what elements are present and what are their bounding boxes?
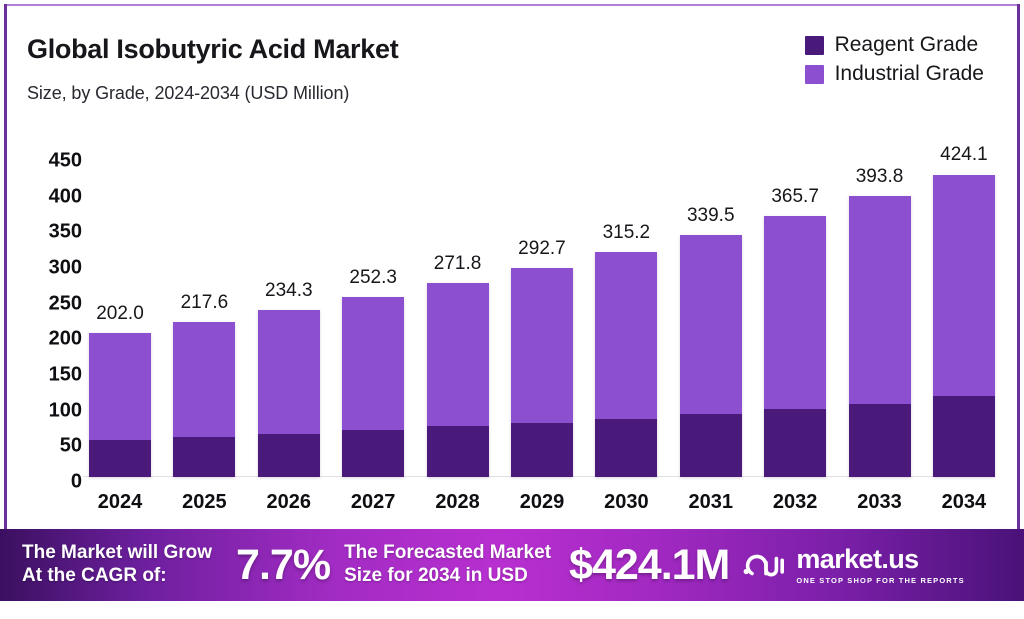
bar-value-label: 339.5	[687, 205, 735, 227]
bar-segment-industrial[interactable]	[173, 322, 235, 437]
bar-segment-industrial[interactable]	[511, 268, 573, 423]
forecast-caption: The Forecasted Market Size for 2034 in U…	[344, 542, 551, 588]
bar-stack[interactable]	[511, 268, 573, 477]
bar-stack[interactable]	[680, 235, 742, 477]
y-axis-tick: 300	[49, 257, 82, 280]
bar-segment-industrial[interactable]	[680, 235, 742, 414]
bar-column[interactable]: 252.3	[342, 156, 404, 477]
chart-plot-area: 450400350300250200150100500 202.0217.623…	[7, 6, 1017, 525]
bar-segment-industrial[interactable]	[849, 196, 911, 404]
bar-value-label: 315.2	[603, 222, 651, 244]
bar-group: 202.0217.6234.3252.3271.8292.7315.2339.5…	[89, 156, 995, 477]
brand-name: market.us	[796, 546, 964, 573]
bar-segment-reagent[interactable]	[258, 434, 320, 477]
summary-banner: The Market will Grow At the CAGR of: 7.7…	[0, 529, 1024, 601]
brand-tagline: ONE STOP SHOP FOR THE REPORTS	[796, 577, 964, 585]
bar-value-label: 292.7	[518, 238, 566, 260]
bar-segment-reagent[interactable]	[342, 430, 404, 477]
bar-value-label: 217.6	[181, 292, 229, 314]
x-axis-tick: 2024	[89, 491, 151, 521]
bar-stack[interactable]	[933, 174, 995, 477]
bar-segment-industrial[interactable]	[89, 333, 151, 440]
bar-segment-industrial[interactable]	[258, 310, 320, 434]
bar-column[interactable]: 271.8	[427, 156, 489, 477]
bar-segment-reagent[interactable]	[933, 396, 995, 477]
brand-lockup: market.us ONE STOP SHOP FOR THE REPORTS	[743, 546, 964, 585]
x-axis-tick: 2031	[680, 491, 742, 521]
x-axis-tick: 2026	[258, 491, 320, 521]
y-axis-tick: 50	[60, 435, 82, 458]
bar-column[interactable]: 217.6	[173, 156, 235, 477]
bar-column[interactable]: 292.7	[511, 156, 573, 477]
bar-column[interactable]: 365.7	[764, 156, 826, 477]
bar-stack[interactable]	[764, 216, 826, 477]
x-axis-tick: 2027	[342, 491, 404, 521]
bar-value-label: 393.8	[856, 166, 904, 188]
y-axis-tick: 100	[49, 399, 82, 422]
bar-segment-industrial[interactable]	[933, 175, 995, 397]
y-axis-tick: 200	[49, 328, 82, 351]
bar-value-label: 252.3	[349, 267, 397, 289]
y-axis-tick: 450	[49, 150, 82, 173]
bar-stack[interactable]	[173, 322, 235, 477]
bar-column[interactable]: 315.2	[595, 156, 657, 477]
bar-stack[interactable]	[89, 333, 151, 477]
bar-column[interactable]: 424.1	[933, 156, 995, 477]
y-axis: 450400350300250200150100500	[27, 161, 82, 483]
bar-stack[interactable]	[427, 283, 489, 477]
bar-segment-industrial[interactable]	[595, 252, 657, 418]
x-axis-tick: 2029	[511, 491, 573, 521]
x-axis: 2024202520262027202820292030203120322033…	[89, 491, 995, 521]
bar-segment-industrial[interactable]	[342, 297, 404, 430]
bar-segment-reagent[interactable]	[89, 440, 151, 477]
bar-segment-reagent[interactable]	[595, 419, 657, 477]
y-axis-tick: 400	[49, 185, 82, 208]
bar-stack[interactable]	[595, 252, 657, 477]
bar-value-label: 424.1	[940, 144, 988, 166]
bar-value-label: 271.8	[434, 253, 482, 275]
x-axis-tick: 2030	[595, 491, 657, 521]
x-axis-tick: 2025	[173, 491, 235, 521]
brand-text: market.us ONE STOP SHOP FOR THE REPORTS	[796, 546, 964, 585]
bar-column[interactable]: 339.5	[680, 156, 742, 477]
bar-value-label: 202.0	[96, 303, 144, 325]
chart-card: Global Isobutyric Acid Market Size, by G…	[7, 6, 1017, 525]
bar-segment-industrial[interactable]	[427, 283, 489, 426]
x-axis-tick: 2033	[849, 491, 911, 521]
bar-column[interactable]: 393.8	[849, 156, 911, 477]
bar-segment-reagent[interactable]	[427, 426, 489, 477]
bar-segment-reagent[interactable]	[764, 409, 826, 477]
cagr-value: 7.7%	[236, 541, 330, 590]
cagr-caption: The Market will Grow At the CAGR of:	[22, 542, 212, 588]
border-accent-right	[1017, 4, 1020, 615]
bar-segment-reagent[interactable]	[173, 437, 235, 477]
y-axis-tick: 250	[49, 292, 82, 315]
x-axis-tick: 2028	[427, 491, 489, 521]
bar-stack[interactable]	[258, 310, 320, 477]
bar-column[interactable]: 234.3	[258, 156, 320, 477]
x-axis-tick: 2034	[933, 491, 995, 521]
bar-column[interactable]: 202.0	[89, 156, 151, 477]
bar-segment-reagent[interactable]	[849, 404, 911, 477]
y-axis-tick: 150	[49, 364, 82, 387]
footer-spacer	[0, 601, 1024, 619]
bar-stack[interactable]	[849, 196, 911, 477]
bar-segment-industrial[interactable]	[764, 216, 826, 409]
bar-value-label: 365.7	[771, 186, 819, 208]
bar-value-label: 234.3	[265, 280, 313, 302]
bar-stack[interactable]	[342, 297, 404, 477]
bar-segment-reagent[interactable]	[680, 414, 742, 477]
forecast-value: $424.1M	[569, 541, 729, 590]
chart-infographic: Global Isobutyric Acid Market Size, by G…	[0, 0, 1024, 619]
y-axis-tick: 0	[71, 471, 82, 494]
market-us-logo-icon	[743, 550, 787, 580]
x-axis-tick: 2032	[764, 491, 826, 521]
bar-segment-reagent[interactable]	[511, 423, 573, 477]
y-axis-tick: 350	[49, 221, 82, 244]
